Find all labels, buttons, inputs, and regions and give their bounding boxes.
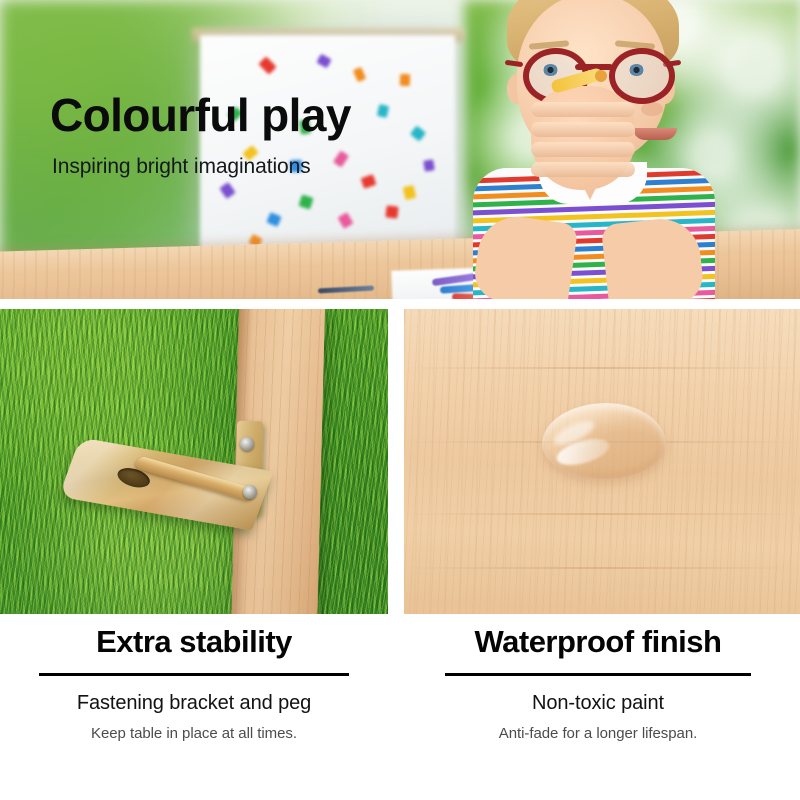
- caption-stability: Extra stability Fastening bracket and pe…: [0, 626, 388, 742]
- caption-subtitle: Fastening bracket and peg: [0, 692, 388, 715]
- feature-image-waterproof: [404, 309, 800, 614]
- caption-waterproof: Waterproof finish Non-toxic paint Anti-f…: [404, 626, 792, 742]
- eye-left: [543, 64, 558, 76]
- whiteboard: [200, 35, 455, 251]
- wood-grain-line: [404, 367, 800, 369]
- magnet-confetti: [385, 205, 398, 218]
- hero-subtitle: Inspiring bright imaginations: [52, 155, 311, 179]
- finger: [531, 122, 635, 137]
- magnet-confetti: [400, 74, 410, 86]
- clasped-hands: [531, 86, 635, 190]
- caption-note: Keep table in place at all times.: [0, 725, 388, 742]
- caption-divider: [39, 673, 349, 676]
- glasses-temple-left: [505, 60, 524, 67]
- water-droplet: [542, 403, 666, 479]
- caption-subtitle: Non-toxic paint: [404, 692, 792, 715]
- screw: [240, 437, 254, 451]
- finger: [531, 162, 635, 177]
- hero-photo: [0, 0, 800, 299]
- finger: [531, 142, 635, 157]
- child-figure: [455, 0, 755, 299]
- finger: [531, 102, 635, 117]
- caption-title: Waterproof finish: [404, 626, 792, 659]
- wood-grain-line: [404, 513, 800, 515]
- nose: [641, 102, 663, 116]
- hero-title: Colourful play: [50, 92, 351, 138]
- mouth: [633, 128, 677, 140]
- caption-title: Extra stability: [0, 626, 388, 659]
- wood-grain-line: [404, 567, 800, 569]
- hero-banner: Colourful play Inspiring bright imaginat…: [0, 0, 800, 299]
- caption-note: Anti-fade for a longer lifespan.: [404, 725, 792, 742]
- caption-divider: [445, 673, 751, 676]
- screw: [243, 485, 257, 499]
- product-feature-collage: Colourful play Inspiring bright imaginat…: [0, 0, 800, 800]
- eye-right: [629, 64, 644, 76]
- feature-image-stability: [0, 309, 388, 614]
- magnet-confetti: [423, 159, 435, 171]
